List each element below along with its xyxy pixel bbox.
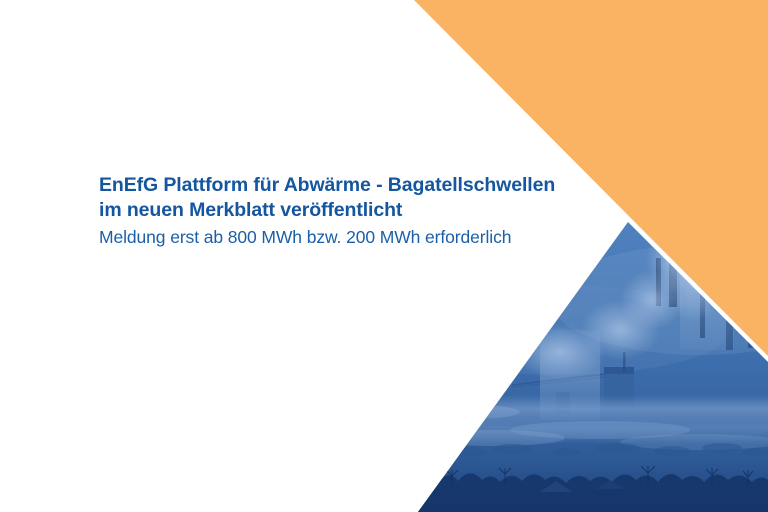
headline-line-2: im neuen Merkblatt veröffentlicht [99,198,569,223]
press-release-banner: EnEfG Plattform für Abwärme - Bagatellsc… [0,0,768,512]
headline-block: EnEfG Plattform für Abwärme - Bagatellsc… [99,173,569,248]
banner-artwork [0,0,768,512]
headline-line-1: EnEfG Plattform für Abwärme - Bagatellsc… [99,173,569,198]
subheadline: Meldung erst ab 800 MWh bzw. 200 MWh erf… [99,226,569,248]
